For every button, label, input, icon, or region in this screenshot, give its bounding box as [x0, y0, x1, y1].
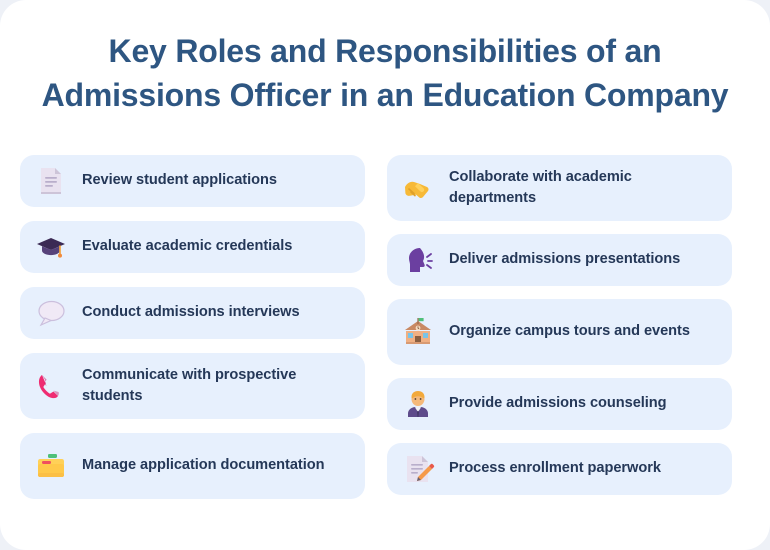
graduation-cap-icon [34, 230, 68, 264]
responsibility-label: Process enrollment paperwork [449, 458, 661, 479]
responsibility-card[interactable]: Conduct admissions interviews [20, 287, 365, 339]
handshake-icon [401, 171, 435, 205]
responsibility-label: Collaborate with academic departments [449, 167, 718, 209]
card-file-box-icon [34, 449, 68, 483]
responsibility-card[interactable]: Organize campus tours and events [387, 299, 732, 365]
responsibility-label: Review student applications [82, 170, 277, 191]
responsibility-card[interactable]: Collaborate with academic departments [387, 155, 732, 221]
responsibility-card[interactable]: Process enrollment paperwork [387, 443, 732, 495]
responsibility-card[interactable]: Deliver admissions presentations [387, 234, 732, 286]
speaking-head-icon [401, 243, 435, 277]
responsibility-card[interactable]: Communicate with prospective students [20, 353, 365, 419]
page-document-icon [34, 164, 68, 198]
responsibility-card[interactable]: Evaluate academic credentials [20, 221, 365, 273]
page-title: Key Roles and Responsibilities of an Adm… [0, 30, 770, 118]
responsibility-label: Conduct admissions interviews [82, 302, 300, 323]
infographic-poster: Key Roles and Responsibilities of an Adm… [0, 0, 770, 550]
school-building-icon [401, 315, 435, 349]
responsibility-label: Organize campus tours and events [449, 321, 690, 342]
office-worker-icon [401, 387, 435, 421]
telephone-receiver-icon [34, 369, 68, 403]
memo-pencil-icon [401, 452, 435, 486]
responsibility-label: Communicate with prospective students [82, 365, 351, 407]
responsibility-label: Evaluate academic credentials [82, 236, 292, 257]
page-title-line-1: Key Roles and Responsibilities of an [10, 30, 760, 74]
responsibility-label: Manage application documentation [82, 455, 324, 476]
speech-balloon-icon [34, 296, 68, 330]
page-title-line-2: Admissions Officer in an Education Compa… [10, 74, 760, 118]
responsibility-card[interactable]: Review student applications [20, 155, 365, 207]
responsibility-card[interactable]: Manage application documentation [20, 433, 365, 499]
left-column: Review student applications Evaluate aca… [20, 155, 365, 499]
responsibility-label: Provide admissions counseling [449, 393, 667, 414]
responsibility-columns: Review student applications Evaluate aca… [20, 155, 750, 499]
responsibility-card[interactable]: Provide admissions counseling [387, 378, 732, 430]
responsibility-label: Deliver admissions presentations [449, 249, 680, 270]
right-column: Collaborate with academic departments De… [387, 155, 732, 499]
